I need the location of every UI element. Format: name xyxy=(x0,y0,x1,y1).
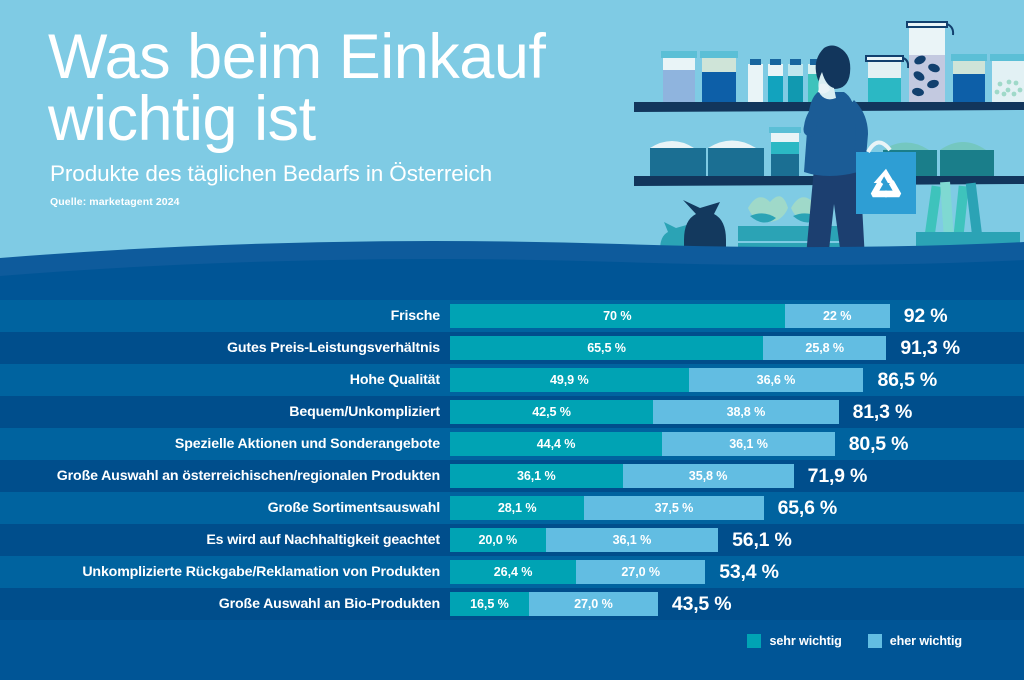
row-total-value: 92 % xyxy=(904,304,948,328)
stacked-bar: 16,5 %27,0 % xyxy=(450,592,658,616)
bar-segment-eher-wichtig: 22 % xyxy=(785,304,890,328)
stacked-bar: 65,5 %25,8 % xyxy=(450,336,886,360)
row-category-label: Hohe Qualität xyxy=(350,364,440,396)
chart-row: Unkomplizierte Rückgabe/Reklamation von … xyxy=(0,556,1024,588)
bar-segment-value: 49,9 % xyxy=(550,373,589,387)
bar-segment-sehr-wichtig: 65,5 % xyxy=(450,336,763,360)
bar-segment-value: 22 % xyxy=(823,309,851,323)
row-category-label: Frische xyxy=(391,300,440,332)
row-category-label: Große Sortimentsauswahl xyxy=(268,492,440,524)
bar-segment-sehr-wichtig: 44,4 % xyxy=(450,432,662,456)
bar-segment-value: 38,8 % xyxy=(727,405,766,419)
bar-segment-value: 35,8 % xyxy=(689,469,728,483)
bar-segment-value: 36,6 % xyxy=(757,373,796,387)
stacked-bar-chart: Frische70 %22 %92 %Gutes Preis-Leistungs… xyxy=(0,300,1024,680)
stacked-bar: 49,9 %36,6 % xyxy=(450,368,863,392)
row-total-value: 81,3 % xyxy=(853,400,913,424)
row-category-label: Gutes Preis-Leistungsverhältnis xyxy=(227,332,440,364)
source-note: Quelle: marketagent 2024 xyxy=(50,196,648,208)
bar-segment-sehr-wichtig: 26,4 % xyxy=(450,560,576,584)
row-category-label: Es wird auf Nachhaltigkeit geachtet xyxy=(206,524,440,556)
stacked-bar: 44,4 %36,1 % xyxy=(450,432,835,456)
bar-segment-eher-wichtig: 35,8 % xyxy=(623,464,794,488)
bar-segment-value: 44,4 % xyxy=(537,437,576,451)
stacked-bar: 70 %22 % xyxy=(450,304,890,328)
chart-row: Hohe Qualität49,9 %36,6 %86,5 % xyxy=(0,364,1024,396)
bar-segment-eher-wichtig: 36,1 % xyxy=(662,432,835,456)
bar-segment-value: 27,0 % xyxy=(574,597,613,611)
bar-segment-sehr-wichtig: 20,0 % xyxy=(450,528,546,552)
row-total-value: 71,9 % xyxy=(808,464,868,488)
bar-segment-sehr-wichtig: 16,5 % xyxy=(450,592,529,616)
bar-segment-value: 65,5 % xyxy=(587,341,626,355)
bar-segment-value: 36,1 % xyxy=(517,469,556,483)
bar-segment-eher-wichtig: 27,0 % xyxy=(529,592,658,616)
bar-segment-eher-wichtig: 36,6 % xyxy=(689,368,864,392)
row-category-label: Große Auswahl an Bio-Produkten xyxy=(219,588,440,620)
row-total-value: 43,5 % xyxy=(672,592,732,616)
bar-segment-value: 36,1 % xyxy=(613,533,652,547)
row-total-value: 65,6 % xyxy=(778,496,838,520)
chart-row: Spezielle Aktionen und Sonderangebote44,… xyxy=(0,428,1024,460)
bar-segment-eher-wichtig: 27,0 % xyxy=(576,560,705,584)
legend-swatch-sehr-wichtig xyxy=(747,634,761,648)
row-total-value: 91,3 % xyxy=(900,336,960,360)
bar-segment-value: 16,5 % xyxy=(470,597,509,611)
bar-segment-eher-wichtig: 37,5 % xyxy=(584,496,763,520)
bar-segment-eher-wichtig: 36,1 % xyxy=(546,528,719,552)
bar-segment-sehr-wichtig: 49,9 % xyxy=(450,368,689,392)
header-text-block: Was beim Einkauf wichtig ist Produkte de… xyxy=(48,26,648,208)
legend-label-eher-wichtig: eher wichtig xyxy=(890,634,962,648)
legend-item-sehr-wichtig[interactable]: sehr wichtig xyxy=(747,634,841,648)
row-category-label: Bequem/Unkompliziert xyxy=(289,396,440,428)
bar-segment-value: 20,0 % xyxy=(478,533,517,547)
page-subtitle: Produkte des täglichen Bedarfs in Österr… xyxy=(50,161,648,187)
bar-segment-value: 37,5 % xyxy=(655,501,694,515)
chart-row: Es wird auf Nachhaltigkeit geachtet20,0 … xyxy=(0,524,1024,556)
bar-segment-value: 70 % xyxy=(603,309,631,323)
bar-segment-value: 25,8 % xyxy=(805,341,844,355)
chart-row: Bequem/Unkompliziert42,5 %38,8 %81,3 % xyxy=(0,396,1024,428)
chart-row: Große Sortimentsauswahl28,1 %37,5 %65,6 … xyxy=(0,492,1024,524)
infographic-root: Was beim Einkauf wichtig ist Produkte de… xyxy=(0,0,1024,680)
bar-segment-value: 27,0 % xyxy=(621,565,660,579)
stacked-bar: 28,1 %37,5 % xyxy=(450,496,764,520)
page-title: Was beim Einkauf wichtig ist xyxy=(48,26,648,151)
row-category-label: Große Auswahl an österreichischen/region… xyxy=(57,460,440,492)
legend-label-sehr-wichtig: sehr wichtig xyxy=(769,634,841,648)
bar-segment-value: 28,1 % xyxy=(498,501,537,515)
bar-segment-value: 26,4 % xyxy=(494,565,533,579)
chart-row: Große Auswahl an österreichischen/region… xyxy=(0,460,1024,492)
stacked-bar: 42,5 %38,8 % xyxy=(450,400,839,424)
chart-rows: Frische70 %22 %92 %Gutes Preis-Leistungs… xyxy=(0,300,1024,620)
row-category-label: Unkomplizierte Rückgabe/Reklamation von … xyxy=(82,556,440,588)
bar-segment-sehr-wichtig: 36,1 % xyxy=(450,464,623,488)
header-wave-divider xyxy=(0,230,1024,300)
chart-row: Gutes Preis-Leistungsverhältnis65,5 %25,… xyxy=(0,332,1024,364)
row-total-value: 53,4 % xyxy=(719,560,779,584)
row-total-value: 86,5 % xyxy=(877,368,937,392)
legend-swatch-eher-wichtig xyxy=(868,634,882,648)
bar-segment-eher-wichtig: 38,8 % xyxy=(653,400,838,424)
header-banner: Was beim Einkauf wichtig ist Produkte de… xyxy=(0,0,1024,300)
bar-segment-sehr-wichtig: 42,5 % xyxy=(450,400,653,424)
chart-row: Frische70 %22 %92 % xyxy=(0,300,1024,332)
stacked-bar: 36,1 %35,8 % xyxy=(450,464,794,488)
bar-segment-sehr-wichtig: 70 % xyxy=(450,304,785,328)
chart-row: Große Auswahl an Bio-Produkten16,5 %27,0… xyxy=(0,588,1024,620)
stacked-bar: 26,4 %27,0 % xyxy=(450,560,705,584)
bar-segment-value: 36,1 % xyxy=(729,437,768,451)
row-category-label: Spezielle Aktionen und Sonderangebote xyxy=(175,428,440,460)
legend-item-eher-wichtig[interactable]: eher wichtig xyxy=(868,634,962,648)
row-total-value: 56,1 % xyxy=(732,528,792,552)
stacked-bar: 20,0 %36,1 % xyxy=(450,528,718,552)
row-total-value: 80,5 % xyxy=(849,432,909,456)
bar-segment-value: 42,5 % xyxy=(532,405,571,419)
chart-legend: sehr wichtig eher wichtig xyxy=(0,634,1024,656)
bar-segment-sehr-wichtig: 28,1 % xyxy=(450,496,584,520)
bar-segment-eher-wichtig: 25,8 % xyxy=(763,336,886,360)
